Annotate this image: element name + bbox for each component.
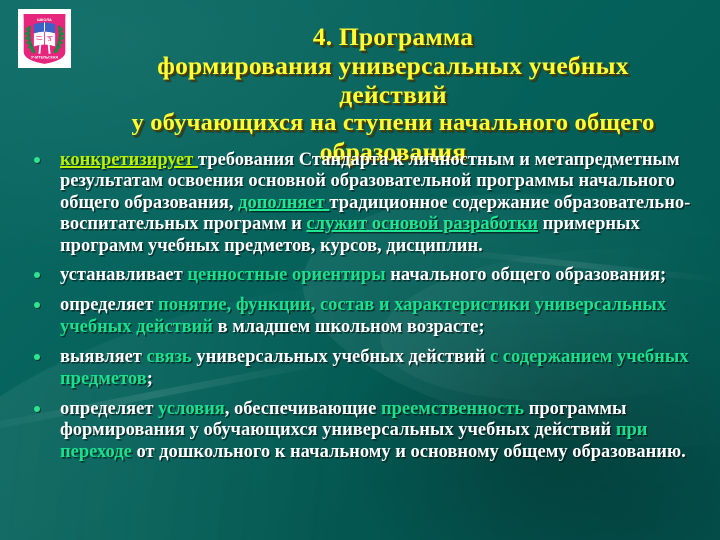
title-line-1: 4. Программа: [78, 22, 708, 51]
emblem-top-text: ШКОЛА: [37, 17, 52, 22]
bullet-marker-icon: [34, 295, 60, 308]
text-segment-4: преемственность: [381, 399, 524, 419]
text-segment-2: условия: [158, 399, 225, 419]
bullet-list: конкретизирует требования Стандарта к ли…: [34, 150, 718, 463]
emblem-bottom-text: УЧИТЕЛЬСКАЯ: [31, 55, 58, 59]
slide-title: 4. Программа формирования универсальных …: [78, 22, 708, 166]
bullet-3-text: определяет понятие, функции, состав и ха…: [60, 295, 718, 338]
text-segment-2: ценностные ориентиры: [187, 265, 385, 285]
presentation-slide: ШКОЛА: [0, 0, 720, 540]
bullet-marker-icon: [34, 265, 60, 278]
text-segment-1: определяет: [60, 295, 158, 315]
text-segment-7: от дошкольного к начальному и основному …: [132, 442, 686, 462]
text-segment-1: устанавливает: [60, 265, 187, 285]
text-segment-3: в младшем школьном возрасте;: [213, 317, 485, 337]
text-segment-3: , обеспечивающие: [225, 399, 381, 419]
text-segment-2: связь: [147, 347, 192, 367]
text-segment-1: определяет: [60, 399, 158, 419]
text-segment-3: универсальных учебных действий: [192, 347, 490, 367]
bullet-2-text: устанавливает ценностные ориентиры начал…: [60, 265, 718, 286]
list-item: выявляет связь универсальных учебных дей…: [34, 347, 718, 390]
text-segment-5: ;: [147, 369, 153, 389]
text-segment-3: начального общего образования;: [386, 265, 667, 285]
list-item: определяет условия, обеспечивающие преем…: [34, 399, 718, 463]
list-item: определяет понятие, функции, состав и ха…: [34, 295, 718, 338]
title-line-4: у обучающихся на ступени начального обще…: [78, 109, 708, 137]
list-item: конкретизирует требования Стандарта к ли…: [34, 150, 718, 257]
title-line-3: действий: [78, 80, 708, 109]
bullet-1-text: конкретизирует требования Стандарта к ли…: [60, 150, 718, 257]
bullet-marker-icon: [34, 399, 60, 412]
text-segment-1: выявляет: [60, 347, 147, 367]
bullet-5-text: определяет условия, обеспечивающие преем…: [60, 399, 718, 463]
bullet-marker-icon: [34, 347, 60, 360]
text-segment-3: дополняет: [238, 193, 329, 213]
school-emblem-logo: ШКОЛА: [18, 9, 71, 68]
bullet-marker-icon: [34, 150, 60, 163]
title-line-2: формирования универсальных учебных: [78, 51, 708, 80]
bullet-4-text: выявляет связь универсальных учебных дей…: [60, 347, 718, 390]
school-emblem-icon: ШКОЛА: [20, 11, 69, 66]
list-item: устанавливает ценностные ориентиры начал…: [34, 265, 718, 286]
text-segment-1: конкретизирует: [60, 150, 198, 170]
text-segment-5: служит основой разработки: [306, 214, 538, 234]
